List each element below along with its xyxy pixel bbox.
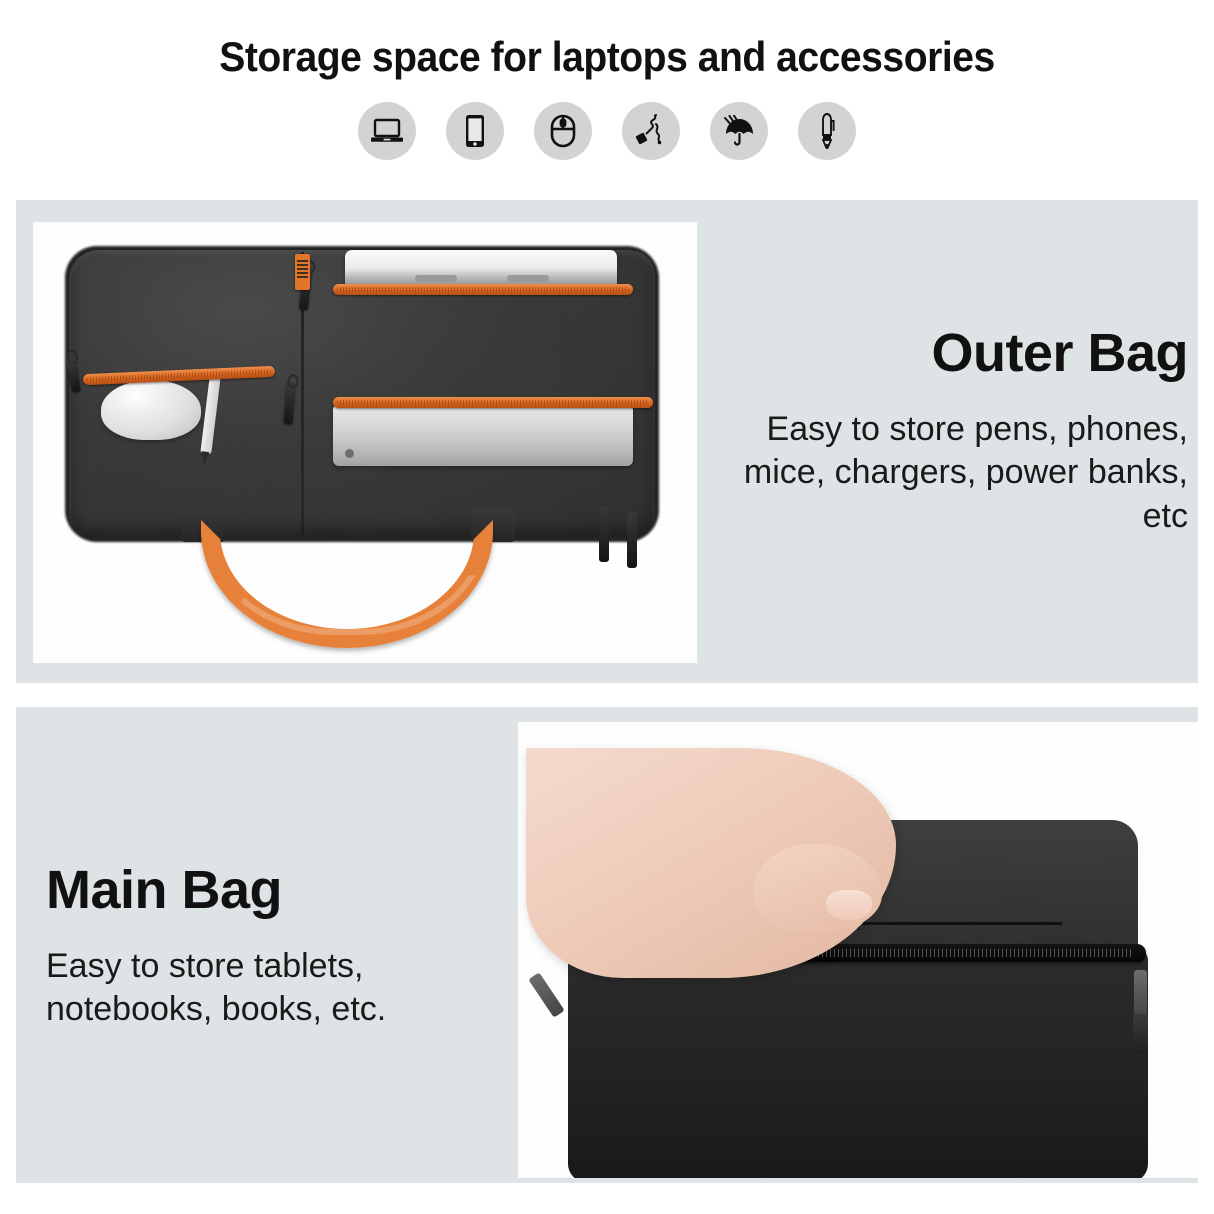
outer-bag-text-block: Outer Bag Easy to store pens, phones, mi…: [716, 325, 1188, 538]
bag-front-panel: [568, 950, 1148, 1178]
main-bag-text-block: Main Bag Easy to store tablets, notebook…: [46, 862, 486, 1032]
header: Storage space for laptops and accessorie…: [0, 0, 1214, 80]
sleeve-flat-lay-illustration: [33, 222, 697, 663]
phone-in-pocket: [345, 250, 617, 288]
outer-bag-heading: Outer Bag: [716, 325, 1188, 382]
orange-carry-handle: [201, 520, 493, 648]
charger-icon: [622, 102, 680, 160]
bag-pocket-zipper: [862, 922, 1062, 925]
main-zipper-pull: [599, 506, 609, 562]
pen-icon: [798, 102, 856, 160]
zipper-pull-right: [1134, 970, 1147, 1016]
umbrella-icon: [710, 102, 768, 160]
feature-icon-row: [0, 102, 1214, 160]
laptop-icon: [358, 102, 416, 160]
mouse-in-pocket: [101, 380, 201, 440]
mouse-icon: [534, 102, 592, 160]
phone-icon: [446, 102, 504, 160]
panel-main-bag: Main Bag Easy to store tablets, notebook…: [16, 707, 1198, 1183]
thumbnail: [826, 890, 872, 920]
open-bag-illustration: [518, 722, 1198, 1178]
front-pocket-zipper: [333, 397, 653, 408]
page-title: Storage space for laptops and accessorie…: [42, 34, 1171, 80]
brand-tab: [295, 254, 310, 290]
main-zipper-pull: [627, 512, 637, 568]
main-bag-photo: [518, 722, 1198, 1178]
main-bag-description: Easy to store tablets, notebooks, books,…: [46, 945, 486, 1032]
main-bag-heading: Main Bag: [46, 862, 486, 919]
panel-outer-bag: Outer Bag Easy to store pens, phones, mi…: [16, 200, 1198, 683]
outer-bag-description: Easy to store pens, phones, mice, charge…: [716, 408, 1188, 539]
top-pocket-zipper: [333, 284, 633, 295]
outer-bag-photo: [33, 222, 697, 663]
tablet-in-pocket: [333, 404, 633, 466]
zipper-pull-left: [528, 972, 565, 1017]
